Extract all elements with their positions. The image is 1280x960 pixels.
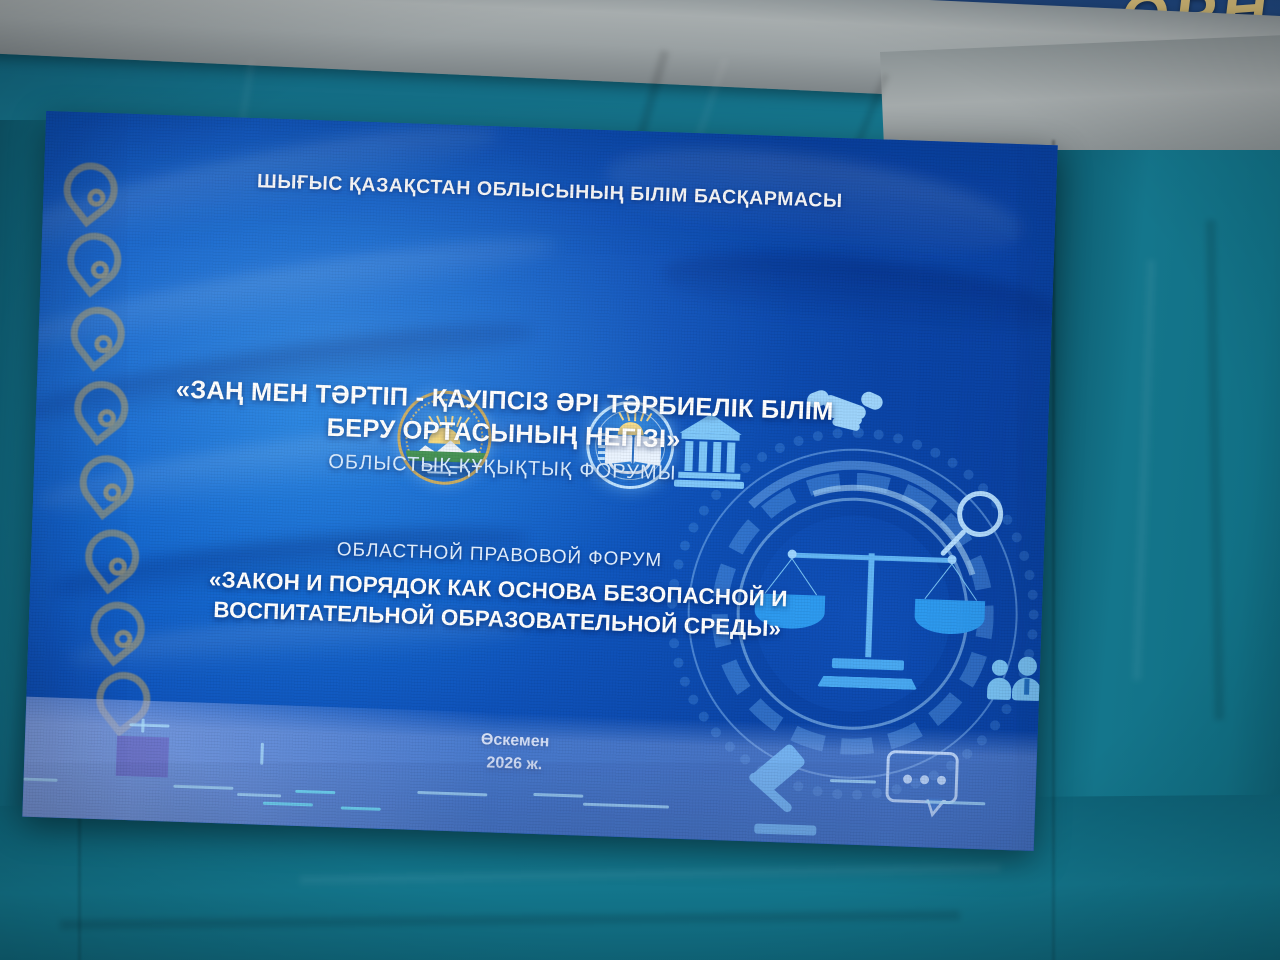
photo-scene: ОРН м [0,0,1280,960]
flag-fold [658,238,1058,349]
screen-dash [141,719,144,733]
led-presentation-screen: ШЫҒЫС ҚАЗАҚСТАН ОБЛЫСЫНЫҢ БІЛІМ БАСҚАРМА… [22,111,1057,851]
screen-bottom-wash-left [22,697,496,833]
slide-content: ШЫҒЫС ҚАЗАҚСТАН ОБЛЫСЫНЫҢ БІЛІМ БАСҚАРМА… [22,111,1057,851]
magnifier-icon [955,490,1028,570]
screen-artifact-block [116,736,169,778]
